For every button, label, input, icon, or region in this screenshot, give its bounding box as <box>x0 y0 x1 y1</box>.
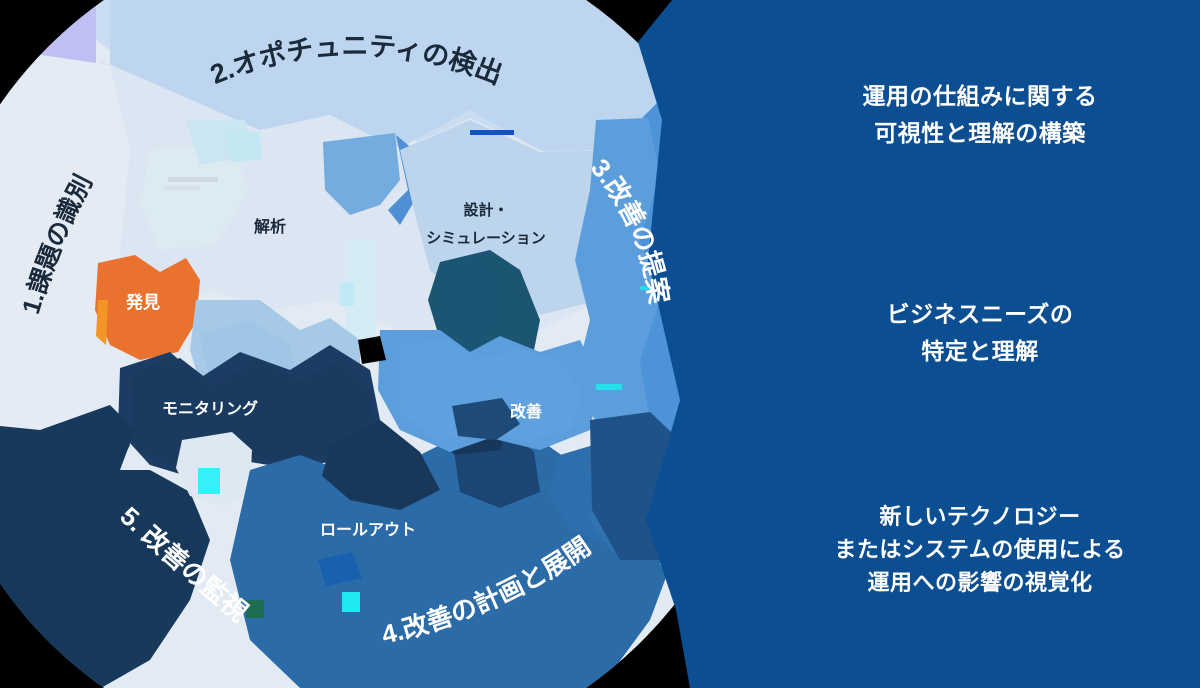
activity-label-design-line2: シミュレーション <box>426 230 545 247</box>
activity-label-monitoring: モニタリング <box>162 399 258 418</box>
region-chip-blue-line <box>470 130 514 135</box>
region-cyan-accent-1 <box>198 468 220 494</box>
region-cyan-accent-2 <box>342 592 360 612</box>
region-chip-cyan <box>340 282 354 306</box>
panel-text-tech-impact: 新しいテクノロジー またはシステムの使用による 運用への影響の視覚化 <box>760 500 1200 599</box>
region-ice-3 <box>225 130 262 162</box>
activity-label-design-line1: 設計・ <box>463 201 508 219</box>
panel-text-visibility: 運用の仕組みに関する 可視性と理解の構築 <box>760 78 1200 153</box>
activity-label-analysis: 解析 <box>254 217 286 236</box>
panel-text-business-needs: ビジネスニーズの 特定と理解 <box>760 296 1200 371</box>
region-chip-grey-line-2 <box>164 186 200 190</box>
activity-label-discover: 発見 <box>125 292 160 312</box>
activity-label-improve: 改善 <box>510 402 542 421</box>
region-chip-grey-line <box>168 177 218 182</box>
region-chip-cyan-line-1 <box>596 384 622 390</box>
diagram-canvas: 2.オポチュニティの検出 1.課題の識別 3.改善の提案 4.改善の計画と展開 … <box>0 0 1200 688</box>
activity-label-rollout: ロールアウト <box>320 521 416 539</box>
